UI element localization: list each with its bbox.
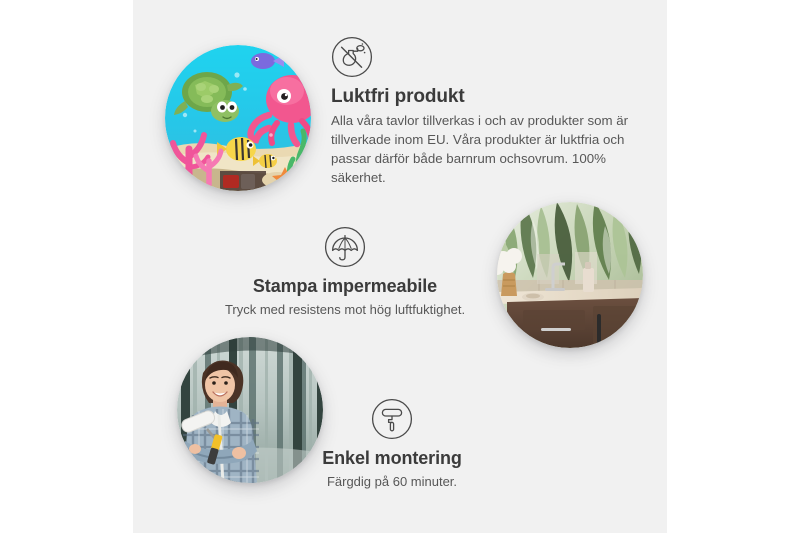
feature-description: Färgdig på 60 minuter.	[292, 473, 492, 491]
no-fragrance-icon	[331, 36, 631, 78]
product-feature-infographic: Luktfri produkt Alla våra tavlor tillver…	[0, 0, 800, 533]
feature-title: Luktfri produkt	[331, 86, 631, 108]
feature-easy-mounting: Enkel montering Färgdig på 60 minuter.	[292, 398, 492, 491]
feature-description: Tryck med resistens mot hög luftfuktighe…	[205, 301, 485, 319]
bathroom-vanity-image	[497, 202, 643, 348]
feature-odour-free: Luktfri produkt Alla våra tavlor tillver…	[331, 36, 631, 188]
feature-title: Stampa impermeabile	[205, 276, 485, 297]
feature-waterproof-print: Stampa impermeabile Tryck med resistens …	[205, 226, 485, 319]
feature-description: Alla våra tavlor tillverkas i och av pro…	[331, 112, 631, 188]
paint-roller-icon	[371, 398, 413, 440]
umbrella-icon	[324, 226, 366, 268]
feature-title: Enkel montering	[292, 448, 492, 469]
underwater-cartoon-image	[165, 45, 311, 191]
